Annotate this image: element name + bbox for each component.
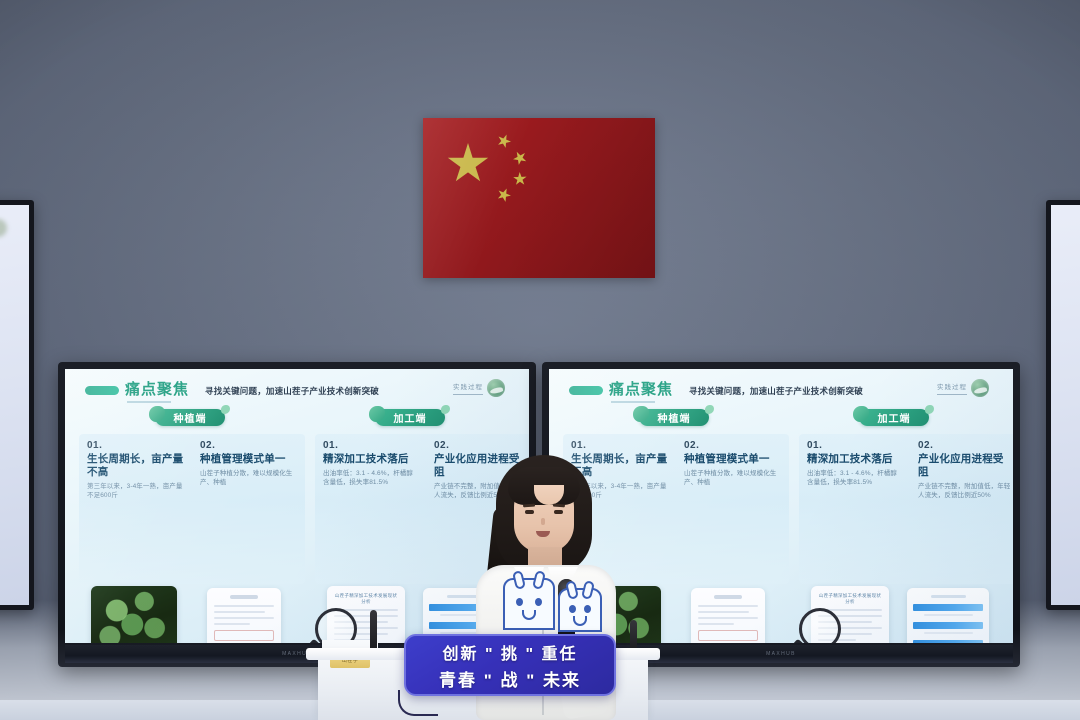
item-number: 01. [87, 440, 184, 451]
section-pill-planting: 种植端 [639, 409, 709, 426]
chart-row [913, 604, 983, 616]
item-planting-02: 02. 种植管理模式单一 山茬子种植分散，难以规模化生产、种植 [676, 434, 789, 584]
item-body: 产业链不完整，附加值低，年轻人流失，反馈比例近50% [918, 482, 1013, 501]
side-display-left-glass [0, 205, 29, 605]
item-number: 02. [434, 440, 529, 451]
doc-highlight-box [698, 630, 758, 641]
report-document-thumbnail [207, 588, 281, 643]
slide-header: 痛点聚焦 寻找关键问题，加速山茬子产业技术创新突破 实践过程 [79, 379, 515, 405]
item-number: 01. [323, 440, 418, 451]
chart-bar [913, 622, 983, 629]
slide-header: 痛点聚焦 寻找关键问题，加速山茬子产业技术创新突破 实践过程 [563, 379, 999, 405]
item-title: 精深加工技术落后 [323, 453, 418, 466]
plant-photo-thumbnail [91, 586, 177, 643]
item-title: 种植管理模式单一 [684, 453, 781, 466]
rabbit-mascot-small [558, 588, 602, 632]
section-pill-processing: 加工端 [859, 409, 929, 426]
chart-bar [913, 604, 983, 611]
panel-processing: 01. 精深加工技术落后 出油率低：3.1 - 4.6%，杆橘醇含量低，损失率8… [799, 434, 1013, 584]
item-processing-01: 01. 精深加工技术落后 出油率低：3.1 - 4.6%，杆橘醇含量低，损失率8… [315, 434, 426, 584]
doc-line [698, 617, 758, 619]
presenter-eye-right [554, 510, 563, 514]
slide-left: 痛点聚焦 寻找关键问题，加速山茬子产业技术创新突破 实践过程 种植端 [65, 369, 529, 643]
mascot-eye-left [569, 605, 576, 613]
item-body: 山茬子种植分散，难以规模化生产、种植 [200, 469, 297, 488]
item-processing-01: 01. 精深加工技术落后 出油率低：3.1 - 4.6%，杆橘醇含量低，损失率8… [799, 434, 910, 584]
magnifying-glass-icon [799, 608, 841, 643]
doc-line [214, 617, 274, 619]
doc-line [698, 611, 749, 613]
item-planting-02: 02. 种植管理模式单一 山茬子种植分散，难以规模化生产、种植 [192, 434, 305, 584]
practice-process-badge: 实践过程 [453, 379, 505, 397]
item-title: 产业化应用进程受阻 [918, 453, 1013, 479]
mascot-muzzle [573, 616, 587, 626]
presenter-nose [541, 518, 545, 525]
flag-of-china [423, 118, 655, 278]
left-display-screen: 痛点聚焦 寻找关键问题，加速山茬子产业技术创新突破 实践过程 种植端 [65, 369, 529, 643]
slide-title: 痛点聚焦 [125, 378, 189, 399]
item-number: 01. [571, 440, 668, 451]
item-planting-01: 01. 生长周期长，亩产量不高 第三年以来，3-4年一熟，亩产量不足600斤 [79, 434, 192, 584]
badge-rule [453, 394, 483, 395]
chart-title-bar [931, 595, 966, 598]
item-title: 精深加工技术落后 [807, 453, 902, 466]
doc-line [214, 605, 274, 607]
item-body: 山茬子种植分散，难以规模化生产、种植 [684, 469, 781, 488]
slogan-line-2: 青春 " 战 " 未来 [439, 666, 581, 691]
section-panels: 01. 生长周期长，亩产量不高 第三年以来，3-4年一熟，亩产量不足600斤 0… [563, 434, 999, 584]
section-panels: 01. 生长周期长，亩产量不高 第三年以来，3-4年一熟，亩产量不足600斤 0… [79, 434, 515, 584]
item-title: 生长周期长，亩产量不高 [87, 453, 184, 479]
item-number: 02. [684, 440, 781, 451]
slide-subtitle: 寻找关键问题，加速山茬子产业技术创新突破 [205, 385, 379, 397]
chart-caption [924, 614, 973, 616]
header-accent-dash [85, 386, 119, 395]
section-pill-row: 种植端 加工端 [563, 409, 999, 431]
data-table-thumbnail [907, 588, 989, 643]
doc-line [214, 611, 265, 613]
item-body: 第三年以来，3-4年一熟，亩产量不足600斤 [87, 482, 184, 501]
flag-sheen [423, 118, 655, 278]
doc-caption: 山茬子精深加工技术发展现状分析 [334, 593, 398, 605]
left-display[interactable]: 痛点聚焦 寻找关键问题，加速山茬子产业技术创新突破 实践过程 种植端 [58, 362, 536, 667]
chart-row [913, 622, 983, 634]
magnifying-glass-icon [315, 608, 357, 643]
badge-label: 实践过程 [453, 381, 483, 391]
slide-subtitle: 寻找关键问题，加速山茬子产业技术创新突破 [689, 385, 863, 397]
chart-caption [924, 632, 973, 634]
presenter-eye-left [525, 510, 534, 514]
presentation-room-scene: 痛点聚焦 寻找关键问题，加速山茬子产业技术创新突破 实践过程 种植端 [0, 0, 1080, 720]
doc-line [214, 623, 250, 625]
mascot-eye-right [535, 598, 542, 606]
doc-heading-bar [230, 595, 258, 599]
mascot-muzzle [522, 610, 536, 620]
item-number: 01. [807, 440, 902, 451]
panel-planting: 01. 生长周期长，亩产量不高 第三年以来，3-4年一熟，亩产量不足600斤 0… [79, 434, 305, 584]
doc-heading-bar [714, 595, 742, 599]
display-brand-label: MAXHUB [766, 651, 796, 657]
header-accent-dash [569, 386, 603, 395]
side-display-right [1046, 200, 1080, 610]
chart-bar [913, 640, 983, 643]
badge-text-wrap: 实践过程 [453, 381, 483, 395]
mascot-eye-left [516, 598, 523, 606]
badge-circle-icon [971, 379, 989, 397]
doc-line [698, 623, 734, 625]
podium-slogan-sign: 创新 " 挑 " 重任 青春 " 战 " 未来 [404, 634, 616, 696]
side-display-left [0, 200, 34, 610]
badge-label: 实践过程 [937, 381, 967, 391]
section-pill-row: 种植端 加工端 [79, 409, 515, 431]
item-title: 种植管理模式单一 [200, 453, 297, 466]
item-processing-02: 02. 产业化应用进程受阻 产业链不完整，附加值低，年轻人流失，反馈比例近50% [910, 434, 1013, 584]
section-pill-processing: 加工端 [375, 409, 445, 426]
side-display-right-glass [1051, 205, 1080, 605]
badge-text-wrap: 实践过程 [937, 381, 967, 395]
mascot-eye-right [584, 605, 591, 613]
badge-rule [937, 394, 967, 395]
slide-title: 痛点聚焦 [609, 378, 673, 399]
practice-process-badge: 实践过程 [937, 379, 989, 397]
title-underline [611, 401, 655, 403]
flag-field [423, 118, 655, 278]
chart-row [913, 640, 983, 643]
presenter-fringe [508, 467, 580, 505]
magnifier-lens [315, 608, 357, 643]
slide-thumbnails: 山茬子精深加工技术发展现状分析 [563, 586, 999, 643]
doc-caption: 山茬子精深加工技术发展现状分析 [818, 593, 882, 605]
report-document-thumbnail [691, 588, 765, 643]
slogan-line-1: 创新 " 挑 " 重任 [443, 640, 578, 664]
item-body: 出油率低：3.1 - 4.6%，杆橘醇含量低，损失率81.5% [323, 469, 418, 488]
rabbit-mascot-large [503, 578, 555, 630]
doc-highlight-box [214, 630, 274, 641]
section-pill-planting: 种植端 [155, 409, 225, 426]
doc-line [698, 605, 758, 607]
magnifier-lens [799, 608, 841, 643]
badge-circle-icon [487, 379, 505, 397]
title-underline [127, 401, 171, 403]
item-body: 出油率低：3.1 - 4.6%，杆橘醇含量低，损失率81.5% [807, 469, 902, 488]
side-display-left-content-blob [0, 219, 7, 237]
item-number: 02. [200, 440, 297, 451]
item-number: 02. [918, 440, 1013, 451]
